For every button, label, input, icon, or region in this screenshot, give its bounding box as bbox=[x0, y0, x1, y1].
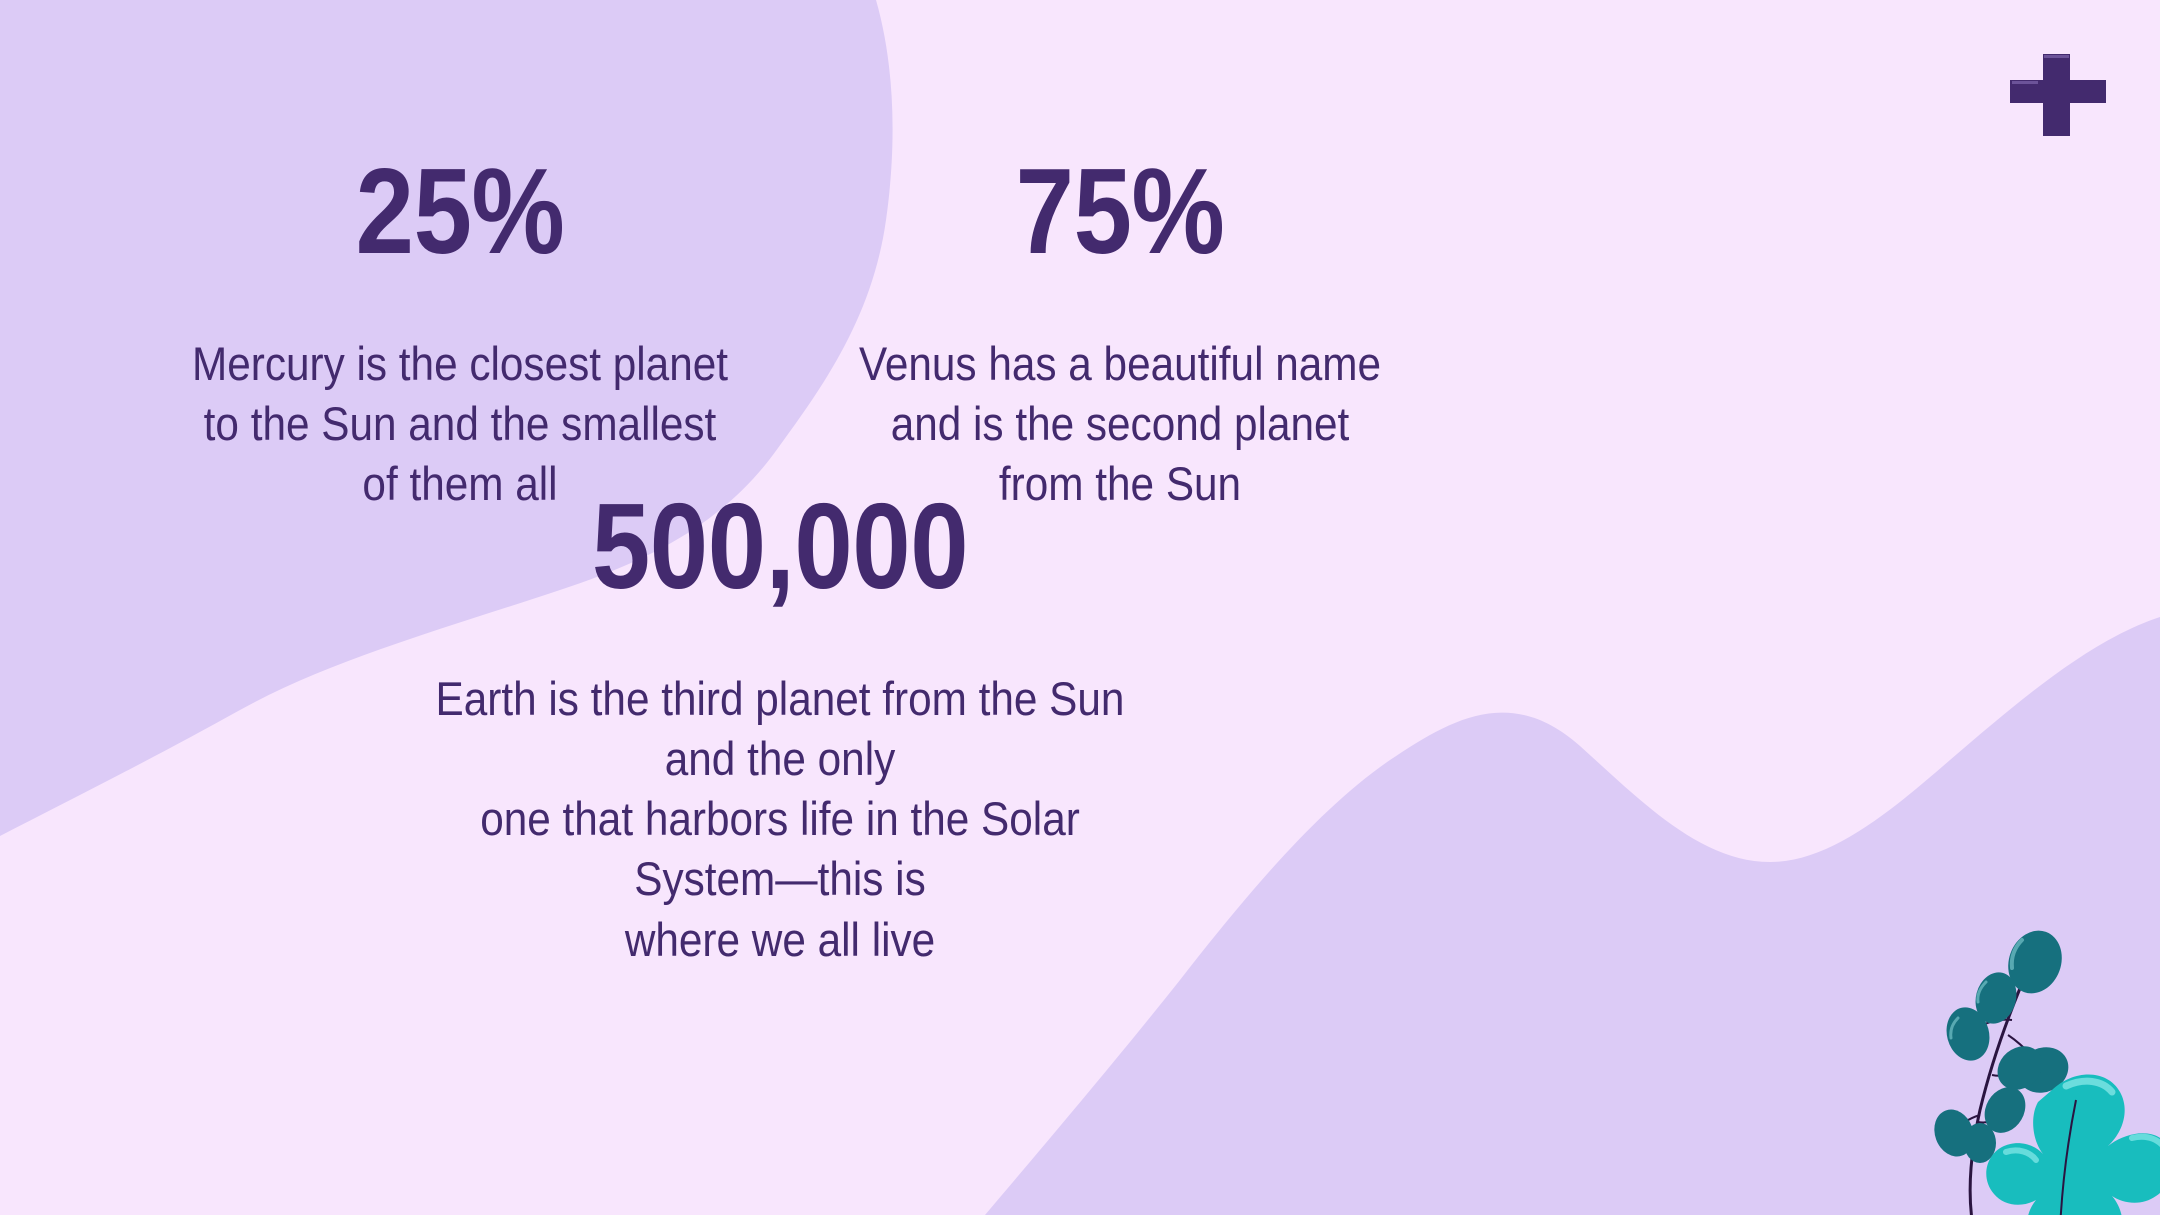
stat-card-mercury: 25% Mercury is the closest planet to the… bbox=[160, 150, 760, 514]
stat-card-venus: 75% Venus has a beautiful name and is th… bbox=[820, 150, 1420, 514]
cross-icon bbox=[2010, 54, 2106, 136]
stat-description-line: one that harbors life in the Solar Syste… bbox=[429, 789, 1131, 909]
content-layer: 25% Mercury is the closest planet to the… bbox=[0, 0, 2160, 1215]
stat-number-venus: 75% bbox=[862, 150, 1378, 272]
stat-card-earth: 500,000 Earth is the third planet from t… bbox=[390, 485, 1170, 970]
stat-number-earth: 500,000 bbox=[445, 485, 1116, 607]
stat-description-line: and is the second planet bbox=[850, 394, 1390, 454]
stat-description-line: Venus has a beautiful name bbox=[850, 334, 1390, 394]
stat-number-mercury: 25% bbox=[202, 150, 718, 272]
slide-canvas: 25% Mercury is the closest planet to the… bbox=[0, 0, 2160, 1215]
stat-description-line: Mercury is the closest planet bbox=[190, 334, 730, 394]
stat-description-earth: Earth is the third planet from the Sun a… bbox=[429, 669, 1131, 970]
stat-description-line: Earth is the third planet from the Sun a… bbox=[429, 669, 1131, 789]
stat-description-line: where we all live bbox=[429, 910, 1131, 970]
stat-description-line: to the Sun and the smallest bbox=[190, 394, 730, 454]
plant-decoration bbox=[1880, 900, 2160, 1215]
